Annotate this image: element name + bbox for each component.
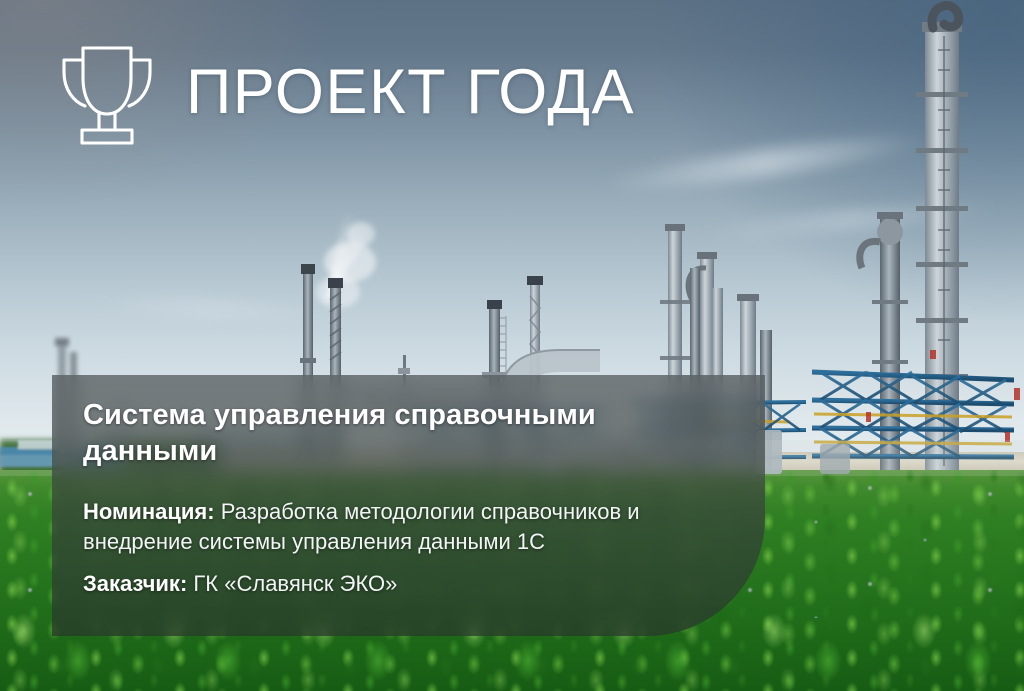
nomination-row: Номинация: Разработка методологии справо…	[83, 497, 731, 557]
nomination-label: Номинация:	[83, 499, 215, 524]
poster-header: ПРОЕКТ ГОДА	[0, 0, 1024, 180]
smoke-plume	[316, 205, 376, 308]
trophy-icon	[52, 38, 162, 148]
project-info-panel: Система управления справочными данными Н…	[52, 375, 765, 636]
project-title: Система управления справочными данными	[83, 397, 731, 469]
customer-row: Заказчик: ГК «Славянск ЭКО»	[83, 569, 731, 599]
poster-stage: Система управления справочными данными Н…	[0, 0, 1024, 691]
customer-value: ГК «Славянск ЭКО»	[193, 571, 397, 596]
customer-label: Заказчик:	[83, 571, 187, 596]
page-title: ПРОЕКТ ГОДА	[186, 56, 635, 128]
